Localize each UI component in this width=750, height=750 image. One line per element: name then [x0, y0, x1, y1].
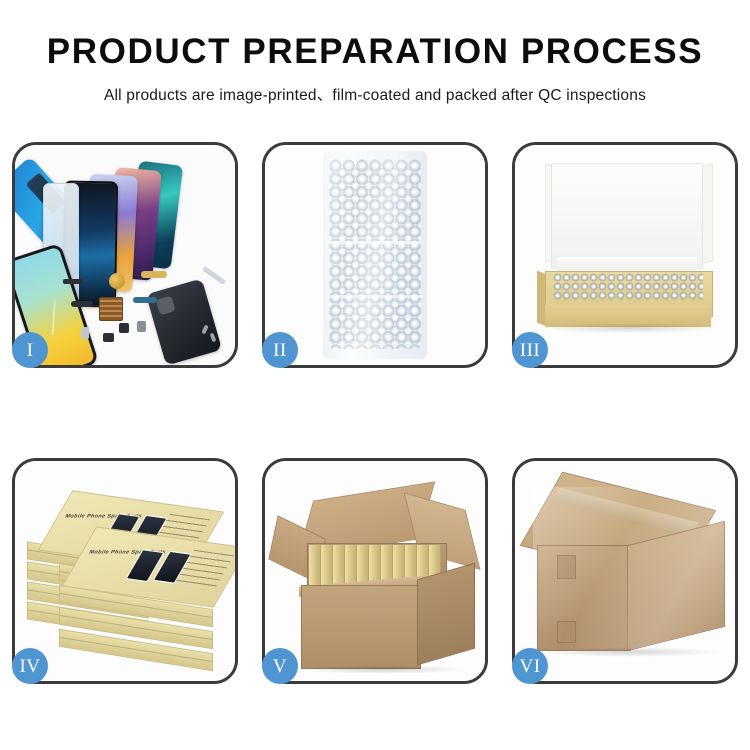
- page-title: PRODUCT PREPARATION PROCESS: [0, 34, 750, 69]
- step-badge-1: I: [12, 332, 48, 368]
- sealed-carton-shadow: [539, 647, 721, 657]
- box-white-lid: [551, 163, 703, 269]
- phone-back-cover: [146, 278, 222, 365]
- carton-tab-lower: [557, 621, 576, 643]
- sealed-carton-side-face: [627, 521, 725, 651]
- step-panel-2: II: [262, 142, 488, 368]
- step-badge-4: IV: [12, 648, 48, 684]
- bubble-wrap-gloss: [323, 151, 427, 359]
- chip-array-part: [99, 297, 123, 321]
- step-panel-6: VI: [512, 458, 738, 684]
- flex-cable-black: [71, 301, 93, 307]
- connector-part: [81, 327, 89, 339]
- step-badge-3: III: [512, 332, 548, 368]
- step-badge-5: V: [262, 648, 298, 684]
- ic-chip-part: [119, 323, 129, 333]
- step-panel-3: III: [512, 142, 738, 368]
- page-subtitle: All products are image-printed、film-coat…: [0, 83, 750, 105]
- step-badge-2: II: [262, 332, 298, 368]
- box-stack: Mobile Phone Spare Parts Mobile Phone Sp…: [23, 479, 233, 669]
- step-image-5: [265, 461, 485, 681]
- product-preparation-infographic: PRODUCT PREPARATION PROCESS All products…: [0, 0, 750, 750]
- carton-right-face: [417, 563, 475, 666]
- sealed-carton-front-face: [537, 545, 631, 651]
- carton-shadow: [299, 665, 467, 674]
- process-steps-grid: I II: [12, 142, 738, 684]
- header: PRODUCT PREPARATION PROCESS All products…: [0, 0, 750, 105]
- step-panel-1: I: [12, 142, 238, 368]
- step-panel-4: Mobile Phone Spare Parts Mobile Phone Sp…: [12, 458, 238, 684]
- flex-cable-blue: [133, 297, 157, 303]
- carton-tab-upper: [557, 555, 576, 579]
- step-image-3: [515, 145, 735, 365]
- speaker-coil-part: [109, 273, 125, 289]
- step-badge-6: VI: [512, 648, 548, 684]
- tweezers-tool: [202, 266, 226, 285]
- flex-cable-gold: [141, 271, 167, 278]
- vibrator-part: [63, 279, 83, 284]
- step-image-6: [515, 461, 735, 681]
- box-inner-bubble-wrap: [553, 273, 703, 301]
- step-image-4: Mobile Phone Spare Parts Mobile Phone Sp…: [15, 461, 235, 681]
- carton-front-face: [301, 585, 421, 669]
- box-shadow: [541, 323, 717, 333]
- step-panel-5: V: [262, 458, 488, 684]
- camera-module-part: [103, 333, 114, 342]
- battery-connector-part: [137, 321, 146, 332]
- step-image-1: [15, 145, 235, 365]
- step-image-2: [265, 145, 485, 365]
